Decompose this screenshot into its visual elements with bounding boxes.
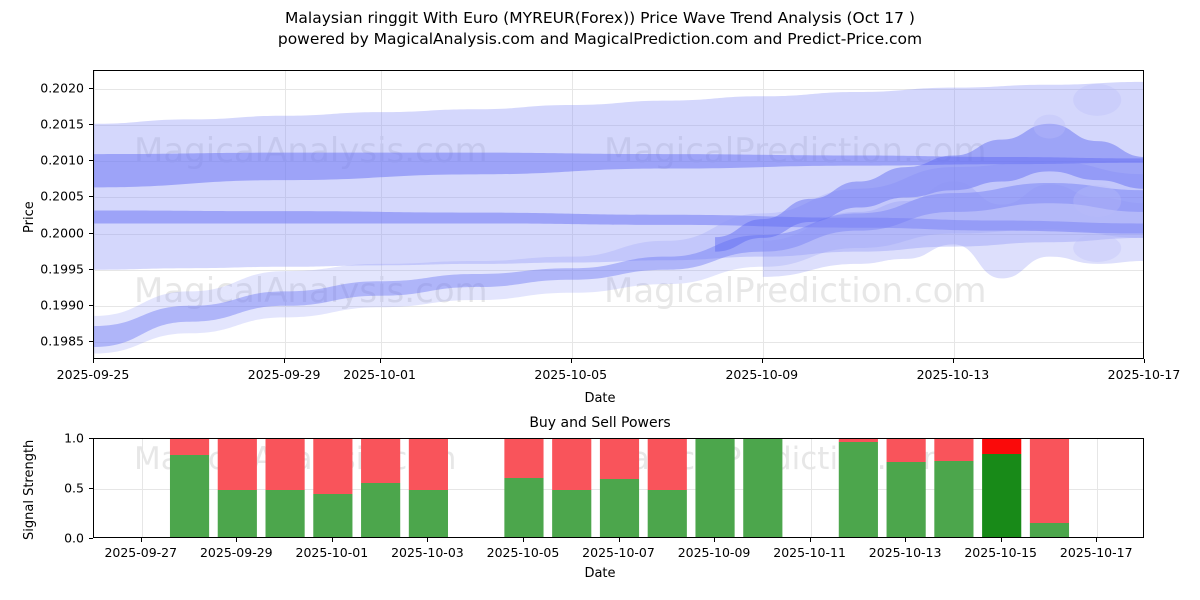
sell-power-bar[interactable]: [1030, 439, 1069, 523]
sell-power-bar[interactable]: [409, 439, 448, 490]
buy-sell-x-tick-label: 2025-10-07: [582, 545, 655, 560]
buy-sell-x-tick-label: 2025-10-11: [773, 545, 846, 560]
buy-sell-x-tick-mark: [523, 538, 524, 542]
buy-power-bar[interactable]: [600, 479, 639, 538]
sell-power-bar[interactable]: [170, 439, 209, 455]
buy-sell-x-tick-label: 2025-10-15: [964, 545, 1037, 560]
buy-sell-x-tick-label: 2025-10-09: [678, 545, 751, 560]
buy-power-bar[interactable]: [887, 462, 926, 538]
buy-sell-plot-area: MagicalAnalysis.com MagicalPrediction.co…: [93, 438, 1144, 538]
sell-power-bar[interactable]: [361, 439, 400, 483]
buy-sell-x-tick-label: 2025-10-17: [1060, 545, 1133, 560]
buy-sell-x-tick-label: 2025-10-03: [391, 545, 464, 560]
buy-sell-y-tick-label: 0.0: [0, 531, 84, 546]
sell-power-bar[interactable]: [934, 439, 973, 461]
buy-sell-x-axis-label: Date: [0, 566, 1200, 581]
buy-power-bar[interactable]: [218, 490, 257, 538]
buy-sell-y-axis-label: Signal Strength: [22, 440, 37, 540]
buy-sell-x-tick-mark: [1096, 538, 1097, 542]
buy-sell-y-tick-label: 1.0: [0, 431, 84, 446]
buy-sell-x-tick-mark: [141, 538, 142, 542]
sell-power-bar[interactable]: [552, 439, 591, 490]
buy-power-bar[interactable]: [409, 490, 448, 538]
buy-sell-x-tick-mark: [905, 538, 906, 542]
buy-power-bar[interactable]: [934, 461, 973, 538]
buy-sell-powers-panel: Buy and Sell Powers MagicalAnalysis.com …: [0, 0, 1200, 600]
sell-power-bar[interactable]: [504, 439, 543, 478]
sell-power-bar[interactable]: [266, 439, 305, 490]
buy-power-bar[interactable]: [982, 454, 1021, 538]
buy-sell-y-tick-mark: [89, 538, 93, 539]
buy-power-bar[interactable]: [552, 490, 591, 538]
buy-sell-x-tick-mark: [427, 538, 428, 542]
buy-sell-x-tick-mark: [1001, 538, 1002, 542]
buy-power-bar[interactable]: [648, 490, 687, 538]
buy-power-bar[interactable]: [839, 442, 878, 538]
sell-power-bar[interactable]: [648, 439, 687, 490]
buy-sell-y-tick-mark: [89, 438, 93, 439]
sell-power-bar[interactable]: [982, 439, 1021, 454]
buy-sell-y-tick-label: 0.5: [0, 481, 84, 496]
sell-power-bar[interactable]: [887, 439, 926, 462]
buy-power-bar[interactable]: [361, 483, 400, 538]
buy-power-bar[interactable]: [504, 478, 543, 538]
buy-sell-powers-title: Buy and Sell Powers: [0, 415, 1200, 431]
buy-power-bar[interactable]: [743, 439, 782, 538]
sell-power-bar[interactable]: [839, 439, 878, 442]
buy-power-bar[interactable]: [695, 439, 734, 538]
buy-sell-x-tick-mark: [236, 538, 237, 542]
sell-power-bar[interactable]: [600, 439, 639, 479]
buy-sell-bars: [94, 439, 1144, 538]
buy-power-bar[interactable]: [313, 494, 352, 538]
sell-power-bar[interactable]: [313, 439, 352, 494]
sell-power-bar[interactable]: [218, 439, 257, 490]
buy-sell-x-tick-label: 2025-10-05: [487, 545, 560, 560]
buy-sell-x-tick-mark: [714, 538, 715, 542]
buy-power-bar[interactable]: [266, 490, 305, 538]
buy-sell-x-tick-mark: [810, 538, 811, 542]
buy-sell-x-tick-mark: [332, 538, 333, 542]
buy-sell-x-tick-label: 2025-10-01: [296, 545, 369, 560]
buy-sell-x-tick-label: 2025-10-13: [869, 545, 942, 560]
buy-sell-x-tick-label: 2025-09-27: [104, 545, 177, 560]
buy-sell-x-tick-label: 2025-09-29: [200, 545, 273, 560]
buy-sell-y-tick-mark: [89, 488, 93, 489]
buy-sell-x-tick-mark: [619, 538, 620, 542]
buy-power-bar[interactable]: [170, 455, 209, 538]
buy-power-bar[interactable]: [1030, 523, 1069, 538]
